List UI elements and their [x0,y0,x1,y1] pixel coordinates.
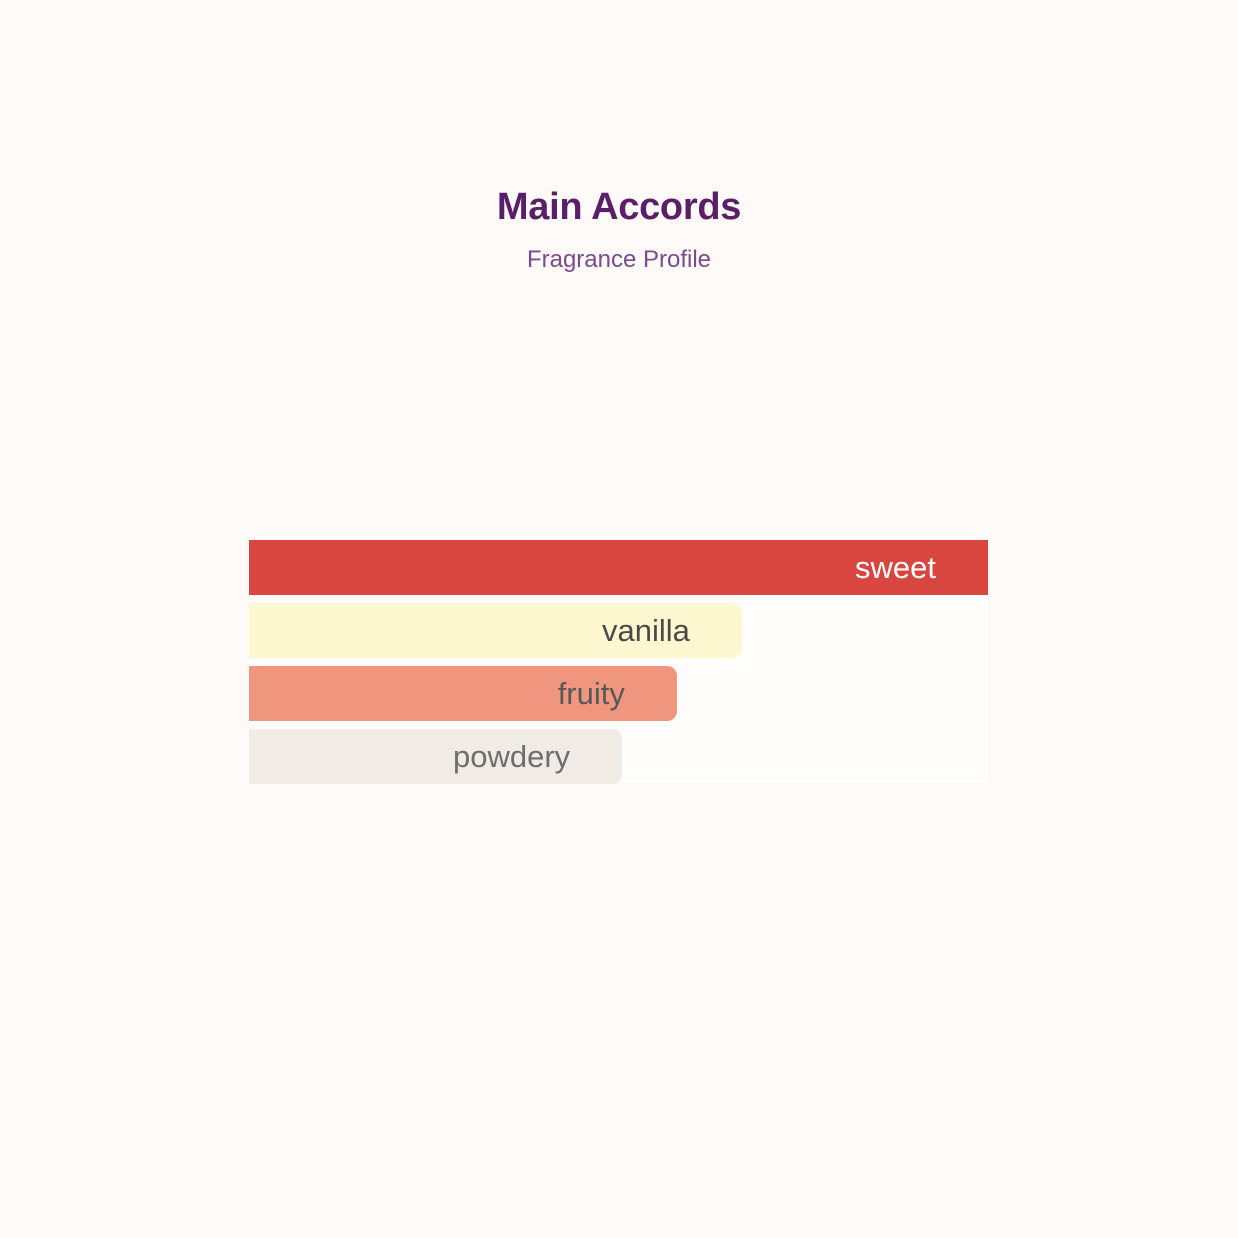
bar-label-fruity: fruity [558,678,625,709]
bar-powdery[interactable]: powdery [249,729,622,784]
bar-chart-plot-area: sweet vanilla fruity powdery [249,540,988,783]
page-subtitle: Fragrance Profile [0,247,1238,273]
bar-row: fruity [249,666,988,721]
page-title: Main Accords [0,186,1238,229]
bar-row: sweet [249,540,988,595]
bar-label-vanilla: vanilla [602,615,690,646]
bar-fruity[interactable]: fruity [249,666,677,721]
bar-label-sweet: sweet [855,552,936,583]
bar-row: vanilla [249,603,988,658]
bar-vanilla[interactable]: vanilla [249,603,742,658]
bar-label-powdery: powdery [453,741,570,772]
chart-header: Main Accords Fragrance Profile [0,186,1238,273]
bar-row: powdery [249,729,988,784]
fragrance-profile-chart: Main Accords Fragrance Profile sweet van… [0,0,1238,1238]
bar-sweet[interactable]: sweet [249,540,988,595]
